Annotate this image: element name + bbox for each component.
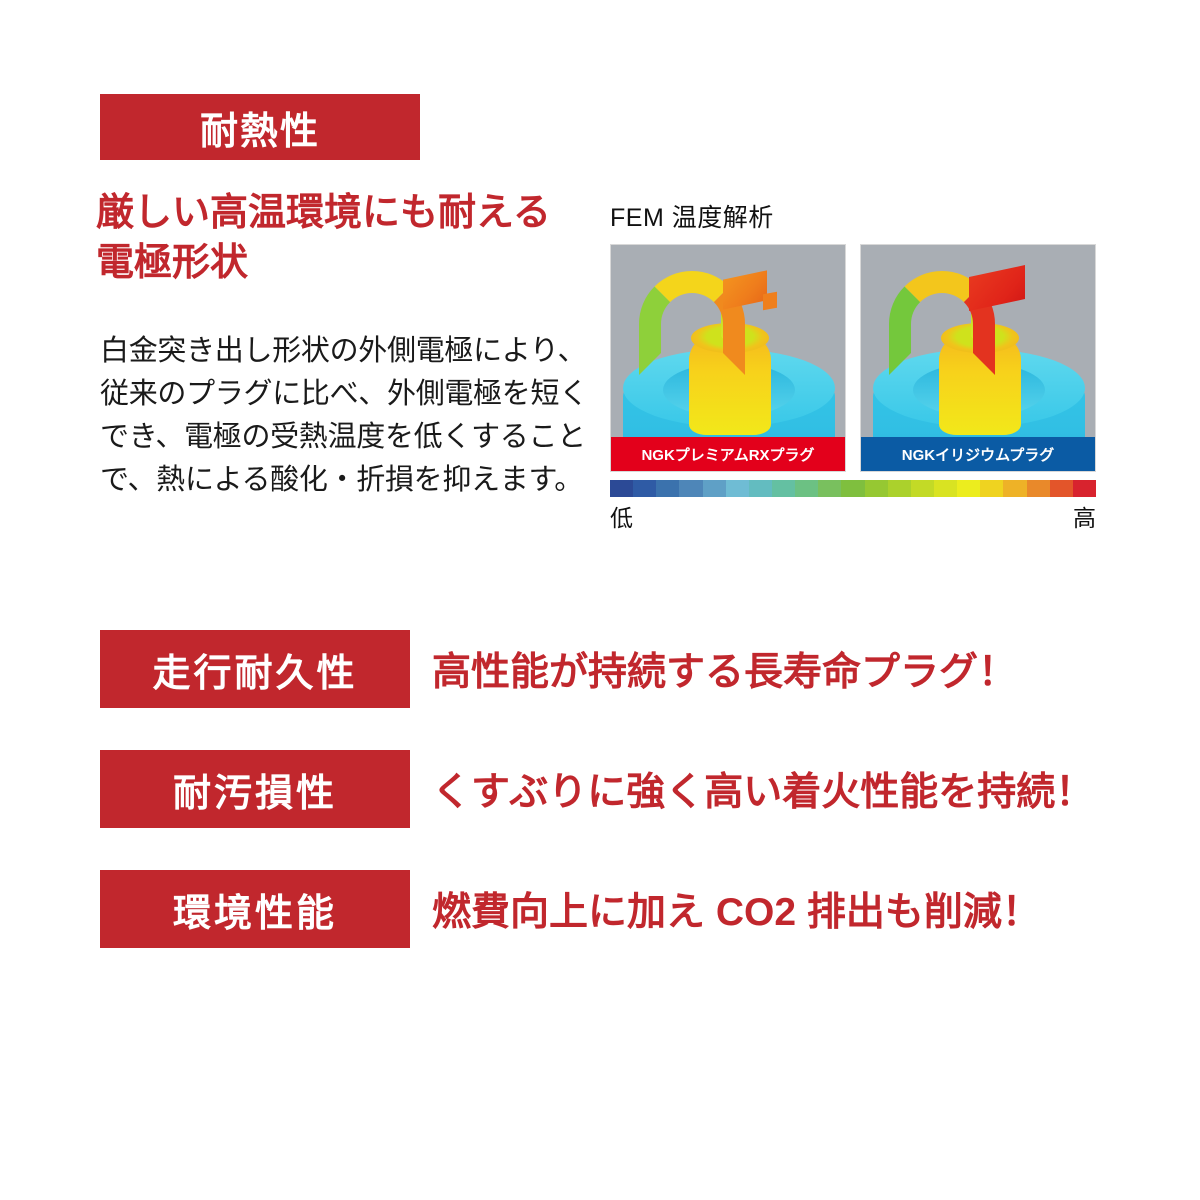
fem-panel-iridium: NGKイリジウムプラグ <box>860 244 1096 472</box>
feature-list: 走行耐久性 高性能が持続する長寿命プラグ！ 耐汚損性 くすぶりに強く高い着火性能… <box>0 630 1200 990</box>
feature-badge-fouling-resistance: 耐汚損性 <box>100 750 410 828</box>
body-line-1: 白金突き出し形状の外側電極により、 <box>100 330 600 373</box>
feature-badge-durability: 走行耐久性 <box>100 630 410 708</box>
fem-caption-premium-rx: NGKプレミアムRXプラグ <box>611 437 845 471</box>
feature-text-durability: 高性能が持続する長寿命プラグ！ <box>432 641 1017 697</box>
ground-electrode-tip-icon <box>969 265 1025 311</box>
scale-label-low: 低 <box>610 499 633 533</box>
colorbar-segment-8 <box>795 480 818 497</box>
temperature-scale-labels: 低 高 <box>610 499 1096 533</box>
fem-title: FEM 温度解析 <box>610 198 1096 234</box>
scale-label-high: 高 <box>1073 499 1096 533</box>
colorbar-segment-13 <box>911 480 934 497</box>
feature-text-environmental: 燃費向上に加え CO2 排出も削減！ <box>432 881 1041 937</box>
ground-electrode-nub-icon <box>763 292 777 310</box>
colorbar-segment-5 <box>726 480 749 497</box>
body-line-3: でき、電極の受熱温度を低くすること <box>100 416 600 459</box>
colorbar-segment-14 <box>934 480 957 497</box>
colorbar-segment-2 <box>656 480 679 497</box>
colorbar-segment-20 <box>1073 480 1096 497</box>
body-line-4: で、熱による酸化・折損を抑えます。 <box>100 459 600 502</box>
colorbar-segment-1 <box>633 480 656 497</box>
feature-row-durability: 走行耐久性 高性能が持続する長寿命プラグ！ <box>0 630 1200 708</box>
heat-resistance-headline: 厳しい高温環境にも耐える 電極形状 <box>96 188 616 288</box>
colorbar-segment-10 <box>841 480 864 497</box>
ground-electrode-tip-icon <box>723 270 767 309</box>
colorbar-segment-19 <box>1050 480 1073 497</box>
feature-badge-environmental: 環境性能 <box>100 870 410 948</box>
colorbar-segment-16 <box>980 480 1003 497</box>
colorbar-segment-3 <box>679 480 702 497</box>
heat-resistance-section: 耐熱性 厳しい高温環境にも耐える 電極形状 白金突き出し形状の外側電極により、 … <box>0 0 1200 600</box>
heat-resistance-body-text: 白金突き出し形状の外側電極により、 従来のプラグに比べ、外側電極を短く でき、電… <box>100 330 600 502</box>
colorbar-segment-11 <box>865 480 888 497</box>
headline-line-1: 厳しい高温環境にも耐える <box>96 192 551 234</box>
feature-row-fouling-resistance: 耐汚損性 くすぶりに強く高い着火性能を持続！ <box>0 750 1200 828</box>
fem-caption-iridium: NGKイリジウムプラグ <box>861 437 1095 471</box>
fem-analysis-block: FEM 温度解析 NGKプレミアムRXプラグ <box>610 198 1096 533</box>
feature-text-fouling-resistance: くすぶりに強く高い着火性能を持続！ <box>432 761 1094 817</box>
fem-panel-premium-rx: NGKプレミアムRXプラグ <box>610 244 846 472</box>
colorbar-segment-18 <box>1027 480 1050 497</box>
colorbar-segment-6 <box>749 480 772 497</box>
colorbar-segment-7 <box>772 480 795 497</box>
colorbar-segment-17 <box>1003 480 1026 497</box>
fem-panel-group: NGKプレミアムRXプラグ NGKイリジウムプラグ <box>610 244 1096 472</box>
body-line-2: 従来のプラグに比べ、外側電極を短く <box>100 373 600 416</box>
headline-line-2: 電極形状 <box>96 238 616 288</box>
colorbar-segment-12 <box>888 480 911 497</box>
colorbar-segment-0 <box>610 480 633 497</box>
feature-row-environmental: 環境性能 燃費向上に加え CO2 排出も削減！ <box>0 870 1200 948</box>
colorbar-segment-9 <box>818 480 841 497</box>
colorbar-segment-4 <box>703 480 726 497</box>
heat-resistance-badge: 耐熱性 <box>100 94 420 160</box>
colorbar-segment-15 <box>957 480 980 497</box>
temperature-colorbar <box>610 480 1096 497</box>
